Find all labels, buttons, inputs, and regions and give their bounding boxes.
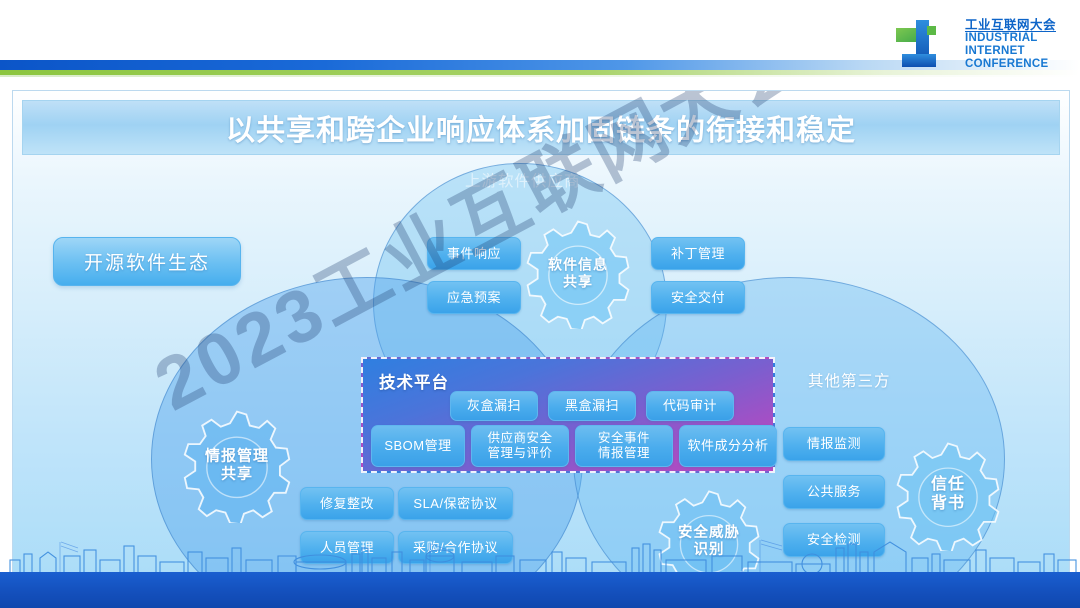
slide-root: 工业互联网大会 INDUSTRIAL INTERNET CONFERENCE 以… xyxy=(0,0,1080,608)
pill-incident-response[interactable]: 事件响应 xyxy=(427,237,521,270)
header-thin-line xyxy=(0,75,1080,77)
logo-title-en-1: INDUSTRIAL xyxy=(965,32,1056,45)
logo-title-en-2: INTERNET xyxy=(965,45,1056,58)
conference-logo-text: 工业互联网大会 INDUSTRIAL INTERNET CONFERENCE xyxy=(965,18,1056,71)
pill-software-composition-analysis[interactable]: 软件成分分析 xyxy=(679,425,777,467)
bottom-skyline xyxy=(0,534,1080,608)
open-source-ecosystem-label: 开源软件生态 xyxy=(84,248,210,275)
gear-software-info-share[interactable]: 软件信息 共享 xyxy=(522,217,634,329)
pill-black-box-scan[interactable]: 黑盒漏扫 xyxy=(548,391,636,421)
pill-sbom-management[interactable]: SBOM管理 xyxy=(371,425,465,467)
venn-diagram: 上游软件供应商 其他第三方 开源软件生态 软件信息 共享 事件响应 xyxy=(13,157,1069,593)
pill-label-line1: 供应商安全 xyxy=(487,431,552,446)
conference-logo-mark xyxy=(894,18,956,70)
pill-label: 软件成分分析 xyxy=(687,438,768,454)
gear-icon xyxy=(522,217,634,329)
pill-label: 事件响应 xyxy=(447,246,501,262)
pill-label: 灰盒漏扫 xyxy=(467,398,521,414)
gear-icon xyxy=(179,407,295,523)
pill-public-service[interactable]: 公共服务 xyxy=(783,475,885,509)
pill-supplier-security-management[interactable]: 供应商安全 管理与评价 xyxy=(471,425,569,467)
pill-label: 修复整改 xyxy=(320,496,374,512)
slide-title: 以共享和跨企业响应体系加固链条的衔接和稳定 xyxy=(226,107,856,149)
pill-label: 情报监测 xyxy=(807,436,861,452)
pill-label-line2: 管理与评价 xyxy=(487,446,552,461)
pill-security-incident-intel[interactable]: 安全事件 情报管理 xyxy=(575,425,673,467)
pill-code-audit[interactable]: 代码审计 xyxy=(646,391,734,421)
logo-title-cn: 工业互联网大会 xyxy=(965,18,1056,32)
pill-label-line2: 情报管理 xyxy=(598,446,650,461)
content-card: 以共享和跨企业响应体系加固链条的衔接和稳定 上游软件供应商 其他第三方 开源软件… xyxy=(12,90,1070,594)
pill-grey-box-scan[interactable]: 灰盒漏扫 xyxy=(450,391,538,421)
pill-label: SLA/保密协议 xyxy=(413,496,497,512)
ellipse-label-third-party: 其他第三方 xyxy=(808,369,891,391)
skyline-band xyxy=(0,572,1080,608)
gear-intel-management-share[interactable]: 情报管理 共享 xyxy=(179,407,295,523)
pill-patch-management[interactable]: 补丁管理 xyxy=(651,237,745,270)
ellipse-label-upstream: 上游软件供应商 xyxy=(465,169,581,191)
pill-label: 应急预案 xyxy=(447,290,501,306)
pill-label: SBOM管理 xyxy=(384,438,451,454)
slide-title-band: 以共享和跨企业响应体系加固链条的衔接和稳定 xyxy=(22,100,1060,155)
pill-secure-delivery[interactable]: 安全交付 xyxy=(651,281,745,314)
pill-emergency-plan[interactable]: 应急预案 xyxy=(427,281,521,314)
open-source-ecosystem-badge[interactable]: 开源软件生态 xyxy=(53,237,241,286)
pill-label: 公共服务 xyxy=(807,484,861,500)
conference-logo: 工业互联网大会 INDUSTRIAL INTERNET CONFERENCE xyxy=(894,18,1056,71)
pill-repair-rectification[interactable]: 修复整改 xyxy=(300,487,394,520)
pill-label: 补丁管理 xyxy=(671,246,725,262)
pill-label: 黑盒漏扫 xyxy=(565,398,619,414)
pill-label-line1: 安全事件 xyxy=(598,431,650,446)
pill-sla-confidentiality[interactable]: SLA/保密协议 xyxy=(398,487,513,520)
pill-intel-monitoring[interactable]: 情报监测 xyxy=(783,427,885,461)
pill-label: 安全交付 xyxy=(671,290,725,306)
technology-platform-title: 技术平台 xyxy=(379,369,449,393)
logo-title-en-3: CONFERENCE xyxy=(965,58,1056,71)
pill-label: 代码审计 xyxy=(663,398,717,414)
